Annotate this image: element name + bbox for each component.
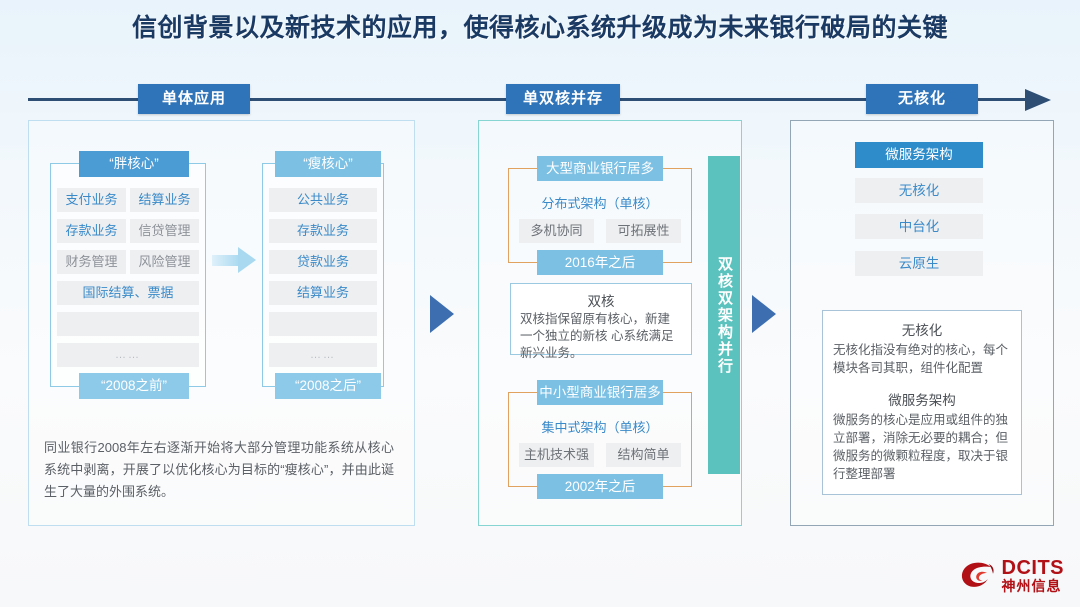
chip-intl-settlement: 国际结算、票据 bbox=[57, 281, 199, 305]
timeline-stage-3[interactable]: 无核化 bbox=[866, 84, 978, 114]
vertical-banner-dual-architecture: 双核双架构并行 bbox=[708, 156, 740, 474]
card-fat-core-rows: 支付业务 结算业务 存款业务 信贷管理 财务管理 风险管理 国际结算、票据 …… bbox=[57, 188, 199, 374]
timeline-stage-2[interactable]: 单双核并存 bbox=[506, 84, 620, 114]
right-panel-header: 微服务架构 bbox=[855, 142, 983, 168]
list-item: 财务管理 风险管理 bbox=[57, 250, 199, 274]
group-large-banks-title: 大型商业银行居多 bbox=[537, 156, 663, 181]
chip-empty bbox=[269, 312, 377, 336]
chip-risk-mgmt: 风险管理 bbox=[130, 250, 199, 274]
slide-root: 信创背景以及新技术的应用，使得核心系统升级成为未来银行破局的关键 单体应用 单双… bbox=[0, 0, 1080, 607]
logo-chinese: 神州信息 bbox=[1002, 579, 1065, 593]
chip-multi-machine: 多机协同 bbox=[519, 219, 594, 243]
chip-coreless: 无核化 bbox=[855, 178, 983, 203]
transition-arrow-icon bbox=[212, 247, 256, 273]
brand-logo: DCITS 神州信息 bbox=[960, 558, 1065, 593]
card-fat-core-title: “胖核心” bbox=[79, 151, 189, 177]
chip-credit-mgmt: 信贷管理 bbox=[130, 219, 199, 243]
chip-simple-structure: 结构简单 bbox=[606, 443, 681, 467]
group-large-banks: 大型商业银行居多 分布式架构（单核） 多机协同 可拓展性 2016年之后 bbox=[508, 168, 692, 263]
list-item: …… bbox=[57, 343, 199, 367]
list-item: 存款业务 bbox=[269, 219, 377, 243]
chip-payment: 支付业务 bbox=[57, 188, 126, 212]
chip-loan-business: 贷款业务 bbox=[269, 250, 377, 274]
card-fat-core: “胖核心” 支付业务 结算业务 存款业务 信贷管理 财务管理 风险管理 国际结算… bbox=[50, 163, 206, 387]
chip-cloud-native: 云原生 bbox=[855, 251, 983, 276]
chip-public-business: 公共业务 bbox=[269, 188, 377, 212]
chip-settlement-business: 结算业务 bbox=[269, 281, 377, 305]
list-item: …… bbox=[269, 343, 377, 367]
card-coreless-heading-1: 无核化 bbox=[833, 319, 1011, 339]
card-thin-core-rows: 公共业务 存款业务 贷款业务 结算业务 …… bbox=[269, 188, 377, 374]
list-item: 支付业务 结算业务 bbox=[57, 188, 199, 212]
card-dual-core-note-body: 双核指保留原有核心，新建一个独立的新核 心系统满足新兴业务。 bbox=[520, 311, 682, 362]
chip-empty bbox=[57, 312, 199, 336]
left-panel-paragraph: 同业银行2008年左右逐渐开始将大部分管理功能系统从核心系统中剥离，开展了以优化… bbox=[44, 437, 394, 503]
logo-wordmark: DCITS 神州信息 bbox=[1002, 558, 1065, 593]
chip-scalability: 可拓展性 bbox=[606, 219, 681, 243]
card-dual-core-note: 双核 双核指保留原有核心，新建一个独立的新核 心系统满足新兴业务。 bbox=[510, 283, 692, 355]
panel-arrow-1-icon bbox=[430, 295, 454, 333]
group-small-banks: 中小型商业银行居多 集中式架构（单核） 主机技术强 结构简单 2002年之后 bbox=[508, 392, 692, 487]
dcits-swirl-icon bbox=[960, 559, 996, 593]
panel-arrow-2-icon bbox=[752, 295, 776, 333]
group-large-banks-subtitle: 分布式架构（单核） bbox=[509, 193, 691, 212]
card-thin-core: “瘦核心” 公共业务 存款业务 贷款业务 结算业务 …… “2008之后” bbox=[262, 163, 384, 387]
group-large-banks-footer: 2016年之后 bbox=[537, 250, 663, 275]
timeline: 单体应用 单双核并存 无核化 bbox=[28, 84, 1052, 114]
timeline-stage-1[interactable]: 单体应用 bbox=[138, 84, 250, 114]
group-small-banks-chips: 主机技术强 结构简单 bbox=[519, 443, 681, 467]
card-thin-core-title: “瘦核心” bbox=[275, 151, 381, 177]
group-small-banks-title: 中小型商业银行居多 bbox=[537, 380, 663, 405]
chip-midplatform: 中台化 bbox=[855, 214, 983, 239]
card-fat-core-footer: “2008之前” bbox=[79, 373, 189, 399]
list-item bbox=[57, 312, 199, 336]
card-coreless-heading-2: 微服务架构 bbox=[833, 389, 1011, 409]
page-title: 信创背景以及新技术的应用，使得核心系统升级成为未来银行破局的关键 bbox=[0, 8, 1080, 44]
list-item bbox=[269, 312, 377, 336]
chip-ellipsis: …… bbox=[57, 343, 199, 367]
card-dual-core-note-title: 双核 bbox=[520, 290, 682, 310]
card-thin-core-footer: “2008之后” bbox=[275, 373, 381, 399]
list-item: 存款业务 信贷管理 bbox=[57, 219, 199, 243]
list-item: 贷款业务 bbox=[269, 250, 377, 274]
list-item: 国际结算、票据 bbox=[57, 281, 199, 305]
chip-deposit-business: 存款业务 bbox=[269, 219, 377, 243]
card-coreless-paragraph-1: 无核化指没有绝对的核心，每个模块各司其职，组件化配置 bbox=[833, 341, 1011, 377]
list-item: 公共业务 bbox=[269, 188, 377, 212]
list-item: 结算业务 bbox=[269, 281, 377, 305]
card-coreless-note: 无核化 无核化指没有绝对的核心，每个模块各司其职，组件化配置 微服务架构 微服务… bbox=[822, 310, 1022, 495]
chip-mainframe-strength: 主机技术强 bbox=[519, 443, 594, 467]
card-coreless-paragraph-2: 微服务的核心是应用或组件的独立部署，消除无必要的耦合；但微服务的微颗粒程度，取决… bbox=[833, 411, 1011, 483]
chip-ellipsis: …… bbox=[269, 343, 377, 367]
chip-settlement: 结算业务 bbox=[130, 188, 199, 212]
group-large-banks-chips: 多机协同 可拓展性 bbox=[519, 219, 681, 243]
logo-english: DCITS bbox=[1002, 558, 1065, 578]
timeline-arrow-icon bbox=[1025, 89, 1051, 111]
group-small-banks-footer: 2002年之后 bbox=[537, 474, 663, 499]
group-small-banks-subtitle: 集中式架构（单核） bbox=[509, 417, 691, 436]
chip-deposit: 存款业务 bbox=[57, 219, 126, 243]
chip-finance-mgmt: 财务管理 bbox=[57, 250, 126, 274]
